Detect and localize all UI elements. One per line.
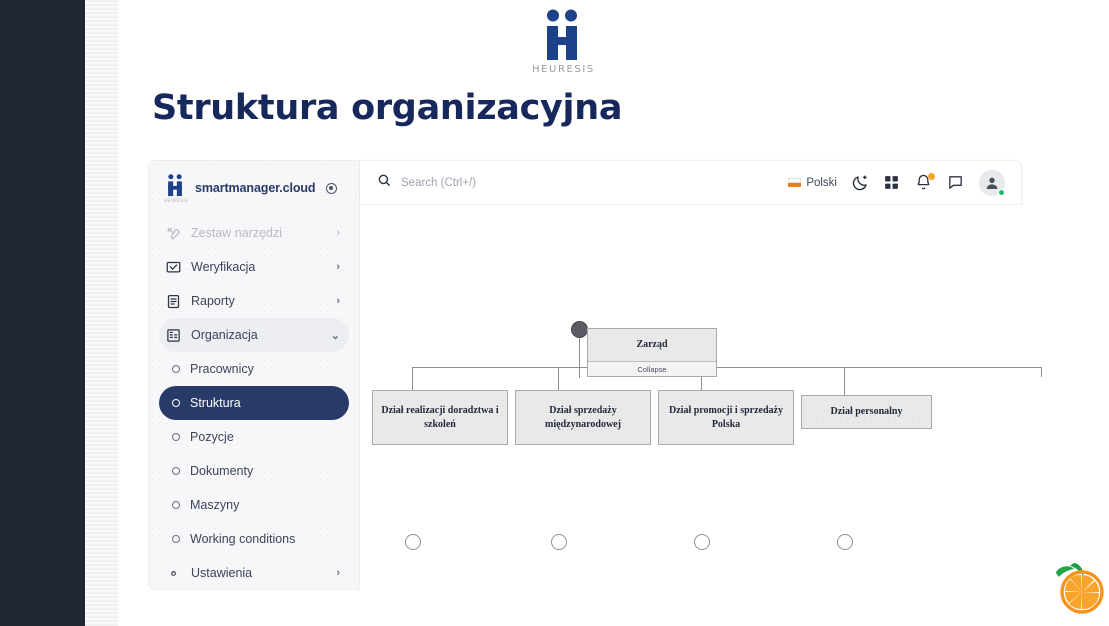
sidebar-nav: Zestaw narzędzi › Weryfikacja ›: [149, 213, 359, 590]
sidebar: HEURESIS smartmanager.cloud Zestaw narzę…: [148, 160, 360, 590]
chevron-right-icon: ›: [336, 295, 340, 307]
connector-circle-1[interactable]: [405, 534, 421, 550]
org-node-title: Zarząd: [588, 329, 716, 361]
apps-grid-icon[interactable]: [883, 174, 901, 192]
record-dot-icon[interactable]: [326, 183, 337, 194]
poland-flag-icon: [788, 178, 801, 187]
org-node-child-2[interactable]: Dział sprzedaży międzynarodowej: [515, 390, 651, 445]
left-dark-band: [0, 0, 85, 626]
sidebar-item-working-conditions[interactable]: Working conditions: [159, 522, 349, 556]
sidebar-item-label: Ustawienia: [187, 566, 336, 580]
connector-circle-3[interactable]: [694, 534, 710, 550]
gear-icon: [166, 566, 187, 581]
sidebar-item-label: Organizacja: [187, 328, 331, 342]
circle-bullet-icon: [172, 535, 180, 543]
org-node-title: Dział realizacji doradztwa i szkoleń: [373, 391, 507, 444]
sidebar-item-zestaw-narzedzi[interactable]: Zestaw narzędzi ›: [159, 216, 349, 250]
user-avatar[interactable]: [979, 170, 1005, 196]
circle-bullet-icon: [172, 433, 180, 441]
circle-bullet-icon: [172, 365, 180, 373]
chevron-right-icon: ›: [336, 261, 340, 273]
bus-line-horizontal: [412, 367, 1042, 368]
sidebar-wordmark: HEURESIS: [164, 198, 186, 203]
sidebar-item-organizacja[interactable]: Organizacja ⌄: [159, 318, 349, 352]
sidebar-item-ustawienia[interactable]: Ustawienia ›: [159, 556, 349, 590]
heuresis-h-logo-icon-small: HEURESIS: [164, 174, 186, 202]
building-icon: [166, 328, 187, 343]
connector-circle-4[interactable]: [837, 534, 853, 550]
app-window: HEURESIS smartmanager.cloud Zestaw narzę…: [148, 160, 1022, 590]
chevron-right-icon: ›: [336, 567, 340, 579]
tools-icon: [166, 226, 187, 241]
heuresis-h-logo-icon: [539, 8, 585, 62]
root-stem-line: [579, 338, 580, 378]
heuresis-brand-header: HEURESIS: [532, 8, 592, 86]
checkbox-screen-icon: [166, 260, 187, 275]
sidebar-item-pozycje[interactable]: Pozycje: [159, 420, 349, 454]
language-selector[interactable]: Polski: [788, 177, 837, 189]
org-node-root[interactable]: Zarząd Collapse: [587, 328, 717, 377]
org-node-title: Dział sprzedaży międzynarodowej: [516, 391, 650, 444]
org-node-child-1[interactable]: Dział realizacji doradztwa i szkoleń: [372, 390, 508, 445]
sidebar-item-dokumenty[interactable]: Dokumenty: [159, 454, 349, 488]
page-title: Struktura organizacyjna: [152, 88, 622, 128]
circle-bullet-icon: [172, 467, 180, 475]
bus-end-line: [1041, 367, 1042, 377]
sidebar-item-label: Dokumenty: [180, 464, 340, 478]
notification-bell-icon[interactable]: [915, 174, 933, 192]
collapse-button[interactable]: Collapse: [588, 361, 716, 376]
sidebar-item-pracownicy[interactable]: Pracownicy: [159, 352, 349, 386]
orange-slice-logo-icon: [1048, 556, 1106, 616]
search-box[interactable]: Search (Ctrl+/): [360, 173, 788, 192]
report-document-icon: [166, 294, 187, 309]
chat-bubble-icon[interactable]: [947, 174, 965, 192]
sidebar-item-label: Raporty: [187, 294, 336, 308]
drop-line-4: [844, 367, 845, 397]
org-node-title: Dział promocji i sprzedaży Polska: [659, 391, 793, 444]
notification-badge: [928, 173, 935, 180]
sidebar-item-label: Pozycje: [180, 430, 340, 444]
chevron-down-icon: ⌄: [331, 329, 340, 342]
org-chart-canvas[interactable]: Zarząd Collapse Dział realizacji doradzt…: [360, 205, 1022, 590]
sidebar-item-raporty[interactable]: Raporty ›: [159, 284, 349, 318]
sidebar-item-label: Weryfikacja: [187, 260, 336, 274]
search-icon: [377, 173, 391, 192]
topbar-actions: Polski: [788, 170, 1021, 196]
root-drag-knob[interactable]: [571, 321, 588, 338]
sidebar-brand[interactable]: HEURESIS smartmanager.cloud: [149, 161, 359, 213]
search-input[interactable]: Search (Ctrl+/): [401, 177, 476, 189]
chevron-right-icon: ›: [336, 227, 340, 239]
sidebar-item-maszyny[interactable]: Maszyny: [159, 488, 349, 522]
sidebar-item-struktura[interactable]: Struktura: [159, 386, 349, 420]
heuresis-wordmark: HEURESIS: [532, 64, 592, 75]
circle-bullet-icon: [172, 399, 180, 407]
sidebar-item-label: Maszyny: [180, 498, 340, 512]
left-striped-band: [85, 0, 118, 626]
circle-bullet-icon: [172, 501, 180, 509]
sidebar-item-label: Pracownicy: [180, 362, 340, 376]
org-node-title: Dział personalny: [802, 396, 931, 428]
org-node-child-4[interactable]: Dział personalny: [801, 395, 932, 429]
online-status-dot: [998, 189, 1005, 196]
sidebar-item-label: Struktura: [180, 396, 340, 410]
screenshot-root: HEURESIS Struktura organizacyjna HEURESI…: [0, 0, 1109, 626]
dark-mode-moon-icon[interactable]: [851, 174, 869, 192]
connector-circle-2[interactable]: [551, 534, 567, 550]
topbar: Search (Ctrl+/) Polski: [360, 160, 1022, 205]
sidebar-item-label: Zestaw narzędzi: [187, 226, 336, 240]
sidebar-item-weryfikacja[interactable]: Weryfikacja ›: [159, 250, 349, 284]
sidebar-brand-text: smartmanager.cloud: [195, 181, 315, 195]
language-label: Polski: [806, 177, 837, 189]
org-node-child-3[interactable]: Dział promocji i sprzedaży Polska: [658, 390, 794, 445]
sidebar-item-label: Working conditions: [180, 532, 340, 546]
